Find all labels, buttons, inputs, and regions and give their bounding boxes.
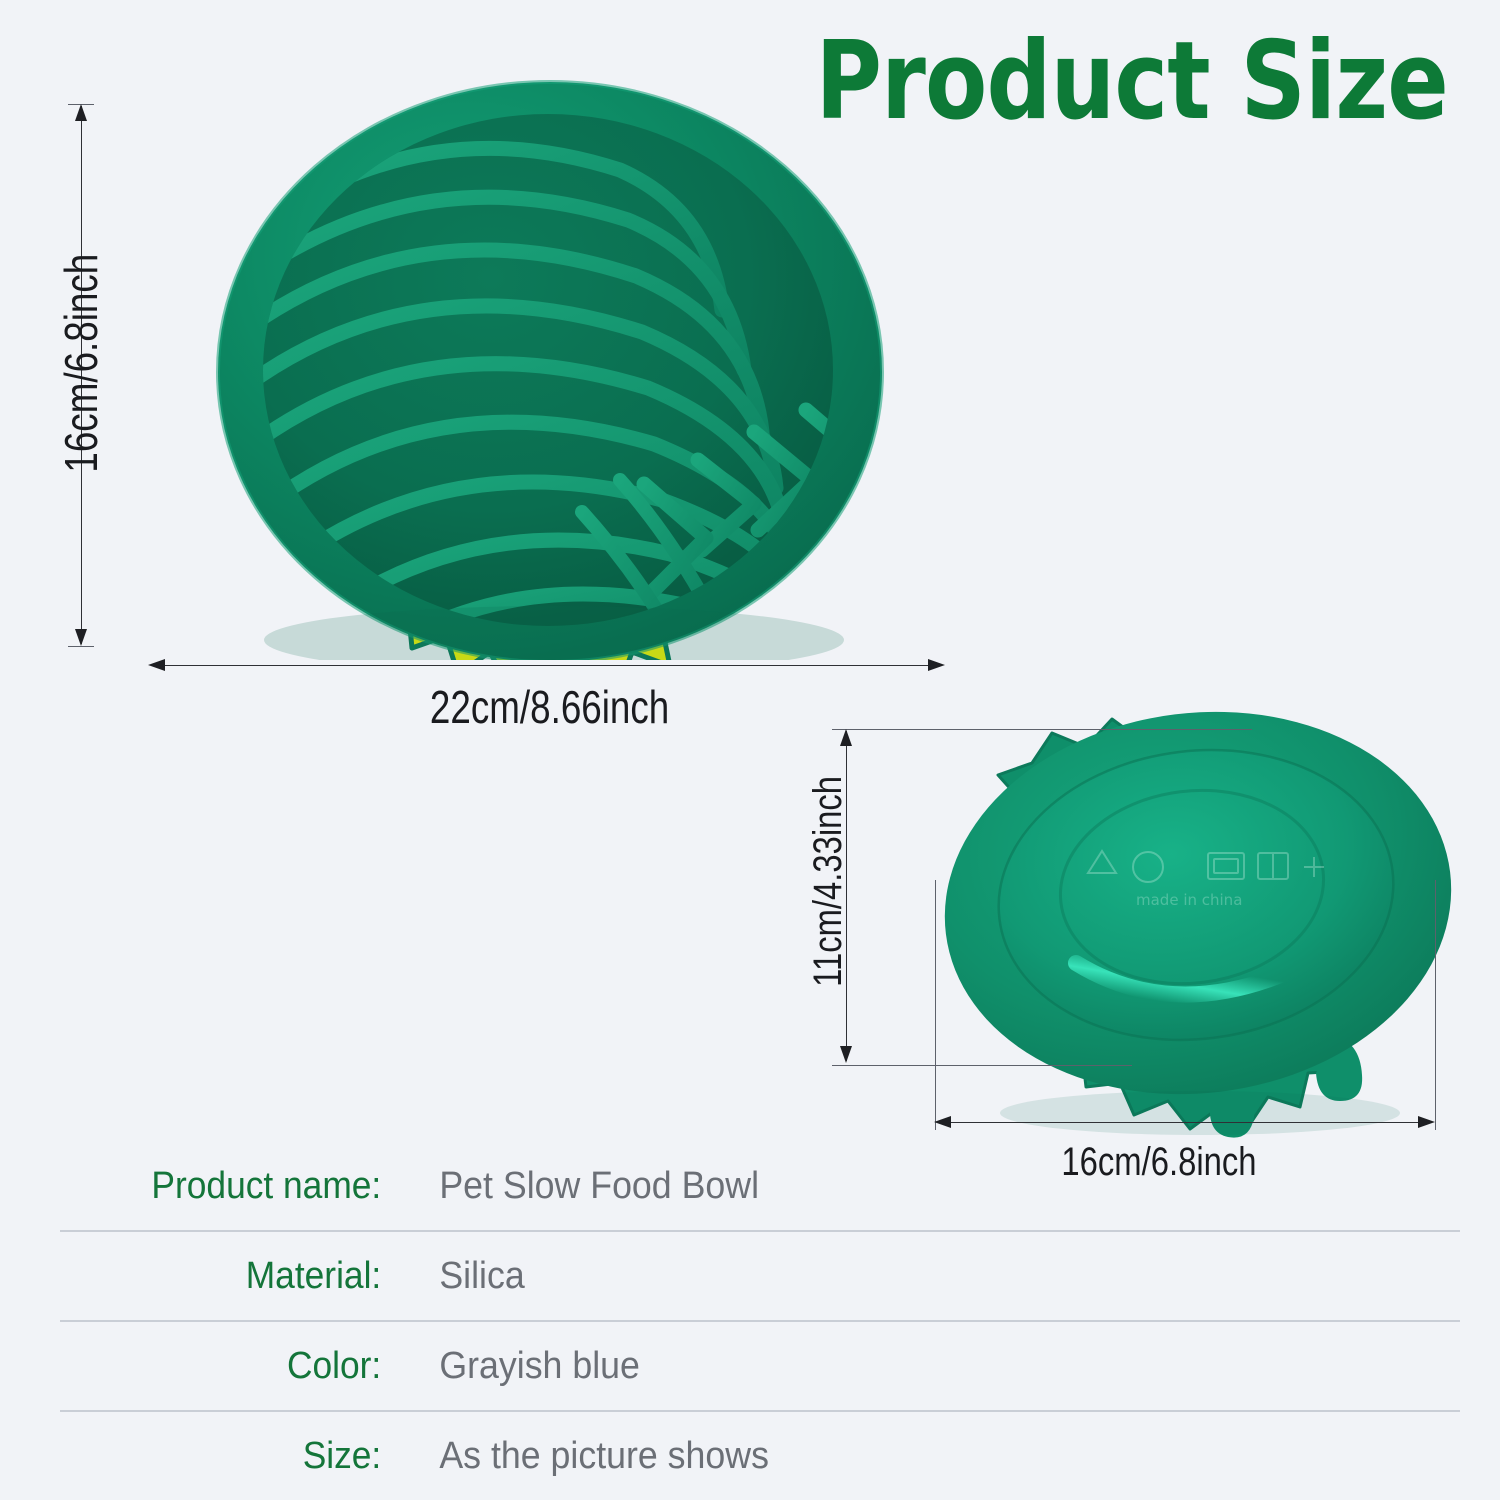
main-bowl-illustration xyxy=(150,80,940,660)
side-width-ext-left xyxy=(935,880,936,1130)
main-width-label: 22cm/8.66inch xyxy=(430,680,669,734)
spec-label-color: Color: xyxy=(84,1345,398,1388)
side-width-ext-right xyxy=(1435,880,1436,1130)
table-row: Size: As the picture shows xyxy=(60,1412,1460,1500)
table-row: Product name: Pet Slow Food Bowl xyxy=(60,1142,1460,1232)
spec-value-material: Silica xyxy=(398,1255,1396,1298)
product-size-infographic: Product Size xyxy=(0,0,1500,1500)
main-width-dimline xyxy=(160,665,940,666)
main-width-arrow-right xyxy=(928,659,945,671)
main-height-label: 16cm/6.8inch xyxy=(54,254,108,473)
side-height-arrow-bottom xyxy=(840,1046,852,1063)
side-height-arrow-top xyxy=(840,729,852,746)
side-width-arrow-right xyxy=(1418,1116,1435,1128)
side-width-arrow-left xyxy=(934,1116,951,1128)
table-row: Material: Silica xyxy=(60,1232,1460,1322)
side-height-ext-top xyxy=(832,729,1252,730)
spec-label-product-name: Product name: xyxy=(84,1165,398,1208)
spec-label-size: Size: xyxy=(84,1435,398,1478)
side-height-label: 11cm/4.33inch xyxy=(806,776,851,987)
spec-label-material: Material: xyxy=(84,1255,398,1298)
main-height-ext-bottom xyxy=(68,646,94,647)
underside-bowl-illustration: made in china xyxy=(880,705,1460,1155)
side-height-ext-bottom xyxy=(832,1065,1132,1066)
spec-table: Product name: Pet Slow Food Bowl Materia… xyxy=(60,1142,1460,1500)
spec-value-product-name: Pet Slow Food Bowl xyxy=(398,1165,1396,1208)
main-width-arrow-left xyxy=(148,659,165,671)
origin-text: made in china xyxy=(1136,891,1242,909)
spec-value-color: Grayish blue xyxy=(398,1345,1396,1388)
table-row: Color: Grayish blue xyxy=(60,1322,1460,1412)
main-height-arrow-bottom xyxy=(75,629,87,646)
main-height-arrow-top xyxy=(75,104,87,121)
spec-value-size: As the picture shows xyxy=(398,1435,1396,1478)
side-width-dimline xyxy=(946,1122,1426,1123)
